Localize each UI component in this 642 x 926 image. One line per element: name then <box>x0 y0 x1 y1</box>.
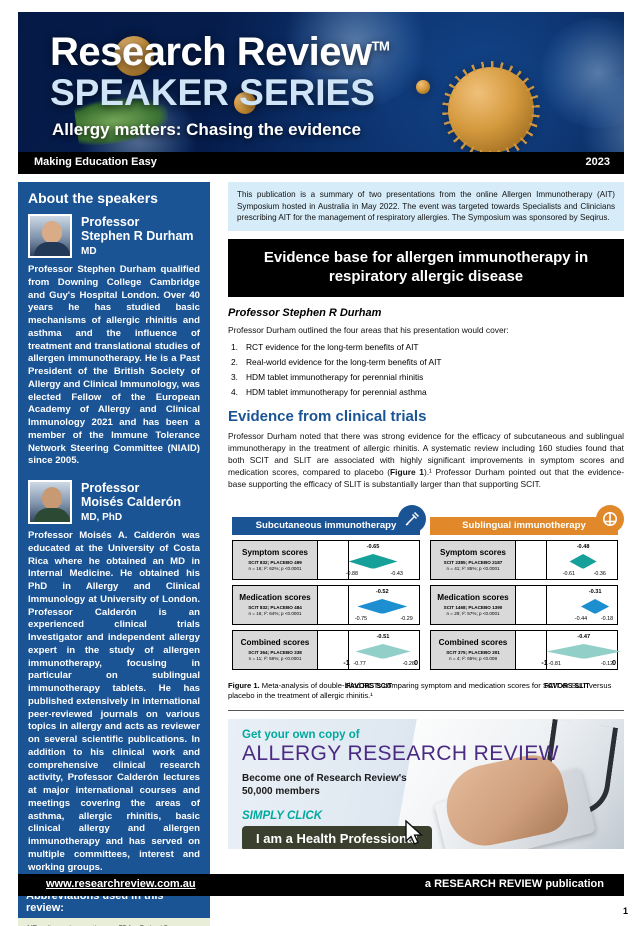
forest-row-plot: -0.48-0.61-0.36 <box>516 540 618 580</box>
ci-lower-label: -0.88 <box>346 571 358 577</box>
forest-row-label: Medication scoresSCIT 1468; PLACEBO 1390… <box>430 585 516 625</box>
axis-tick-max: 0 <box>414 660 418 667</box>
ad-membership-text: Become one of Research Review's 50,000 m… <box>242 772 559 798</box>
header-banner: Research ReviewTM SPEAKER SERIES Allergy… <box>18 12 624 152</box>
ci-lower-label: -0.75 <box>355 616 367 622</box>
effect-estimate-label: -0.31 <box>589 589 602 595</box>
x-axis: -10 <box>318 660 420 670</box>
forest-row-label: Combined scoresSCIT 375; PLACEBO 301n = … <box>430 630 516 670</box>
axis-tick-max: 0 <box>612 660 616 667</box>
ci-upper-label: -0.18 <box>601 616 613 622</box>
effect-diamond <box>581 599 609 614</box>
list-number: 3. <box>231 371 238 383</box>
main-content: This publication is a summary of two pre… <box>228 182 624 849</box>
row-counts: SCIT 2385; PLACEBO 2187 <box>444 560 503 565</box>
row-stats: n = 29; I²: 57%; p <0.0001 <box>446 611 499 616</box>
row-title: Medication scores <box>437 593 508 602</box>
list-item-label: HDM tablet immunotherapy for perennial r… <box>246 372 423 382</box>
speaker-fullname: Stephen R Durham <box>81 229 194 243</box>
effect-estimate-label: -0.47 <box>577 634 590 640</box>
speaker-title: Professor <box>81 215 139 229</box>
forest-row-label: Symptom scoresSCIT 832; PLACEBO 499n = 1… <box>232 540 318 580</box>
ci-upper-label: -0.43 <box>391 571 403 577</box>
row-title: Symptom scores <box>440 548 506 557</box>
effect-diamond <box>570 554 597 569</box>
effect-estimate-label: -0.52 <box>376 589 389 595</box>
ad-simply-click: SIMPLY CLICK <box>242 810 559 822</box>
speaker-bio: Professor Moisés A. Calderón was educate… <box>28 530 200 874</box>
row-stats: n = 11; I²: 58%; p <0.0001 <box>249 656 302 661</box>
speaker-bio: Professor Stephen Durham qualified from … <box>28 264 200 468</box>
row-stats: n = 16; I²: 62%; p <0.0001 <box>248 566 301 571</box>
row-title: Medication scores <box>239 593 310 602</box>
speaker-degrees: MD <box>81 246 194 257</box>
effect-diamond <box>546 644 621 659</box>
pollen-grain-icon <box>448 67 534 152</box>
forest-row-plot: -0.52-0.75-0.29 <box>318 585 420 625</box>
about-speakers-panel: About the speakers Professor Stephen R D… <box>18 182 210 886</box>
row-stats: n = 41; I²: 85%; p <0.0001 <box>446 566 499 571</box>
figure-reference: Figure 1 <box>390 467 424 477</box>
ad-line-1: Get your own copy of <box>242 729 559 741</box>
series-title: SPEAKER SERIES <box>50 72 375 114</box>
row-title: Combined scores <box>241 638 310 647</box>
speaker-name: Professor Moisés Calderón <box>81 480 181 510</box>
null-effect-line <box>348 586 349 624</box>
divider <box>228 710 624 711</box>
row-stats: n = 16; I²: 64%; p <0.0001 <box>248 611 301 616</box>
list-number: 2. <box>231 356 238 368</box>
null-effect-line <box>546 541 547 579</box>
panel-header: Subcutaneous immunotherapy <box>232 517 420 535</box>
speaker-title: Professor <box>81 481 139 495</box>
row-counts: SCIT 364; PLACEBO 338 <box>248 650 302 655</box>
speaker-fullname: Moisés Calderón <box>81 495 181 509</box>
axis-tick-min: -1 <box>541 660 547 667</box>
publication-label: a RESEARCH REVIEW publication <box>425 878 604 890</box>
ad-publication-name: ALLERGY RESEARCH REVIEW <box>242 742 559 766</box>
abbreviations-list: AIT = allergen immunotherapy; FDA = Fede… <box>18 918 210 926</box>
article-title: Evidence base for allergen immunotherapy… <box>228 239 624 297</box>
sidebar: About the speakers Professor Stephen R D… <box>18 182 210 926</box>
syringe-icon <box>398 505 426 533</box>
strip-slogan: Making Education Easy <box>34 156 157 168</box>
speaker-name: Professor Stephen R Durham <box>81 214 194 244</box>
axis-tick-min: -1 <box>343 660 349 667</box>
forest-row: Medication scoresSCIT 832; PLACEBO 484n … <box>232 585 420 625</box>
list-number: 4. <box>231 386 238 398</box>
null-effect-line <box>546 586 547 624</box>
list-item-label: HDM tablet immunotherapy for perennial a… <box>246 387 427 397</box>
ci-lower-label: -0.61 <box>563 571 575 577</box>
website-link[interactable]: www.researchreview.com.au <box>46 878 196 890</box>
speaker-degrees: MD, PhD <box>81 512 181 523</box>
effect-estimate-label: -0.51 <box>377 634 390 640</box>
ci-upper-label: -0.29 <box>401 616 413 622</box>
list-item: 3.HDM tablet immunotherapy for perennial… <box>246 371 624 383</box>
list-number: 1. <box>231 341 238 353</box>
effect-diamond <box>357 599 407 614</box>
page-number: 1 <box>623 906 628 916</box>
speaker-entry: Professor Moisés Calderón MD, PhD <box>28 480 200 524</box>
row-title: Combined scores <box>439 638 508 647</box>
strip-year: 2023 <box>586 156 610 168</box>
avatar <box>28 214 72 258</box>
brand-title-text: Research Review <box>50 30 372 74</box>
article-byline: Professor Stephen R Durham <box>228 307 624 319</box>
speaker-entry: Professor Stephen R Durham MD <box>28 214 200 258</box>
ad-text-block: Get your own copy of ALLERGY RESEARCH RE… <box>242 729 559 849</box>
effect-diamond <box>349 554 398 569</box>
pollen-grain-icon <box>416 80 430 94</box>
row-title: Symptom scores <box>242 548 308 557</box>
sidebar-heading: About the speakers <box>28 190 200 206</box>
effect-estimate-label: -0.65 <box>367 544 380 550</box>
list-item: 2.Real-world evidence for the long-term … <box>246 356 624 368</box>
ci-lower-label: -0.44 <box>575 616 587 622</box>
tablet-icon <box>596 505 624 533</box>
footer-bar: www.researchreview.com.au a RESEARCH REV… <box>18 874 624 896</box>
spacer <box>28 468 200 480</box>
axis-favors-label: FAVORS SCIT <box>318 683 420 690</box>
intro-paragraph: Professor Durham outlined the four areas… <box>228 324 624 336</box>
list-item: 4.HDM tablet immunotherapy for perennial… <box>246 386 624 398</box>
list-item-label: RCT evidence for the long-term benefits … <box>246 342 419 352</box>
row-stats: n = 4; I²: 65%; p <0.008 <box>449 656 497 661</box>
advertisement-banner[interactable]: Get your own copy of ALLERGY RESEARCH RE… <box>228 719 624 849</box>
ci-upper-label: -0.36 <box>594 571 606 577</box>
page: Research ReviewTM SPEAKER SERIES Allergy… <box>0 0 642 926</box>
effect-diamond <box>355 644 410 659</box>
forest-panel-scit: Subcutaneous immunotherapySymptom scores… <box>232 517 420 690</box>
axis-favors-label: FAVORS SLIT <box>516 683 618 690</box>
panel-header: Sublingual immunotherapy <box>430 517 618 535</box>
list-item-label: Real-world evidence for the long-term be… <box>246 357 442 367</box>
forest-row-label: Medication scoresSCIT 832; PLACEBO 484n … <box>232 585 318 625</box>
forest-panel-slit: Sublingual immunotherapySymptom scoresSC… <box>430 517 618 690</box>
row-counts: SCIT 832; PLACEBO 499 <box>248 560 302 565</box>
effect-estimate-label: -0.48 <box>577 544 590 550</box>
forest-row-plot: -0.31-0.44-0.18 <box>516 585 618 625</box>
brand-title: Research ReviewTM <box>50 30 389 75</box>
forest-row-plot: -0.65-0.88-0.43 <box>318 540 420 580</box>
banner-tagline: Allergy matters: Chasing the evidence <box>52 120 361 140</box>
forest-row-label: Combined scoresSCIT 364; PLACEBO 338n = … <box>232 630 318 670</box>
row-counts: SCIT 1468; PLACEBO 1390 <box>444 605 503 610</box>
forest-row: Medication scoresSCIT 1468; PLACEBO 1390… <box>430 585 618 625</box>
forest-row: Symptom scoresSCIT 832; PLACEBO 499n = 1… <box>232 540 420 580</box>
section-heading: Evidence from clinical trials <box>228 408 624 425</box>
list-item: 1.RCT evidence for the long-term benefit… <box>246 341 624 353</box>
publication-summary: This publication is a summary of two pre… <box>228 182 624 231</box>
forest-row: Symptom scoresSCIT 2385; PLACEBO 2187n =… <box>430 540 618 580</box>
section-paragraph: Professor Durham noted that there was st… <box>228 430 624 491</box>
header-strip: Making Education Easy 2023 <box>18 152 624 174</box>
trademark-symbol: TM <box>372 39 390 54</box>
forest-row-label: Symptom scoresSCIT 2385; PLACEBO 2187n =… <box>430 540 516 580</box>
forest-plot-figure: Subcutaneous immunotherapySymptom scores… <box>228 503 624 675</box>
avatar <box>28 480 72 524</box>
row-counts: SCIT 832; PLACEBO 484 <box>248 605 302 610</box>
x-axis: -10 <box>516 660 618 670</box>
topics-list: 1.RCT evidence for the long-term benefit… <box>228 341 624 399</box>
row-counts: SCIT 375; PLACEBO 301 <box>446 650 500 655</box>
